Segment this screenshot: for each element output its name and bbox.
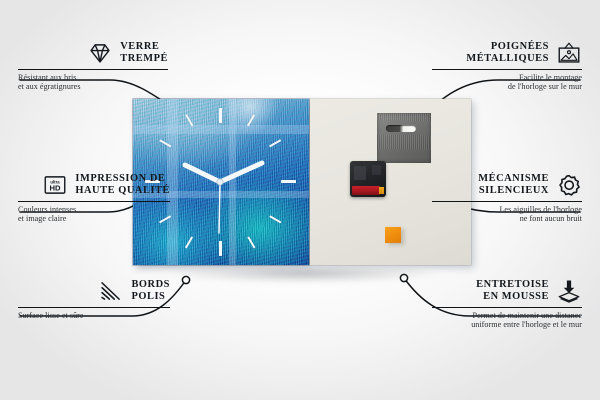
feature-subtitle-line2: de l'horloge sur le mur [432,82,582,92]
feature-mecanisme-silencieux: MÉCANISME SILENCIEUX Les aiguilles de l'… [432,172,582,224]
feature-subtitle-line2: uniforme entre l'horloge et le mur [432,320,582,330]
feature-rule [18,69,168,70]
hanger-keyhole-slot [386,125,416,132]
mechanism-chip [372,165,381,175]
wall-mount-icon [556,40,582,66]
feature-subtitle-line1: Les aiguilles de l'horloge [432,205,582,215]
gear-icon [556,172,582,198]
clock-hour-hand [185,165,220,182]
ultra-hd-icon: ultra HD [42,172,68,198]
feature-subtitle-line2: et aux égratignures [18,82,168,92]
svg-text:HD: HD [50,184,62,193]
infographic-canvas: VERRE TREMPÉ Résistant aux bris et aux é… [0,0,600,400]
battery [352,186,380,195]
clock-second-hand [219,182,220,233]
feature-title-line1: MÉCANISME [478,173,549,184]
feature-verre-trempe: VERRE TREMPÉ Résistant aux bris et aux é… [18,40,168,92]
feature-entretoise-en-mousse: ENTRETOISE EN MOUSSE Permet de maintenir… [432,278,582,330]
feature-title-line2: EN MOUSSE [483,291,549,302]
foam-spacer-icon [556,278,582,304]
feature-subtitle-line1: Surface lisse et sûre [18,311,170,321]
feature-subtitle-line2: et image claire [18,214,170,224]
foam-spacer [385,227,401,243]
feature-rule [432,307,582,308]
clock-center-cap [217,179,223,185]
feature-subtitle-line1: Facilite le montage [432,73,582,83]
feature-title-line2: HAUTE QUALITÉ [75,185,170,196]
feature-title-line1: VERRE [120,41,159,52]
feature-subtitle-line1: Permet de maintenir une distance [432,311,582,321]
feature-poignees-metalliques: POIGNÉES MÉTALLIQUES Facilite le montage… [432,40,582,92]
feature-title-line2: MÉTALLIQUES [466,53,549,64]
feature-impression-haute-qualite: ultra HD IMPRESSION DE HAUTE QUALITÉ Cou… [18,172,170,224]
diamond-icon [87,40,113,66]
feature-title-line2: POLIS [131,291,165,302]
clock-mechanism [350,161,386,197]
feature-title-line1: ENTRETOISE [476,279,549,290]
feature-rule [18,307,170,308]
feature-title-line2: SILENCIEUX [479,185,549,196]
feature-title-line1: BORDS [131,279,170,290]
product-photo [133,99,471,279]
feature-rule [432,201,582,202]
feature-subtitle-line1: Résistant aux bris [18,73,168,83]
mechanism-chip [354,166,366,180]
feature-title-line1: IMPRESSION DE [75,173,165,184]
feature-title-line1: POIGNÉES [491,41,549,52]
polished-edges-icon [98,278,124,304]
metal-hanger-plate [377,113,431,163]
feature-bords-polis: BORDS POLIS Surface lisse et sûre [18,278,170,320]
feature-title-line2: TREMPÉ [120,53,168,64]
feature-subtitle-line1: Couleurs intenses [18,205,170,215]
feature-rule [432,69,582,70]
clock-minute-hand [220,163,262,182]
feature-rule [18,201,170,202]
feature-subtitle-line2: ne font aucun bruit [432,214,582,224]
